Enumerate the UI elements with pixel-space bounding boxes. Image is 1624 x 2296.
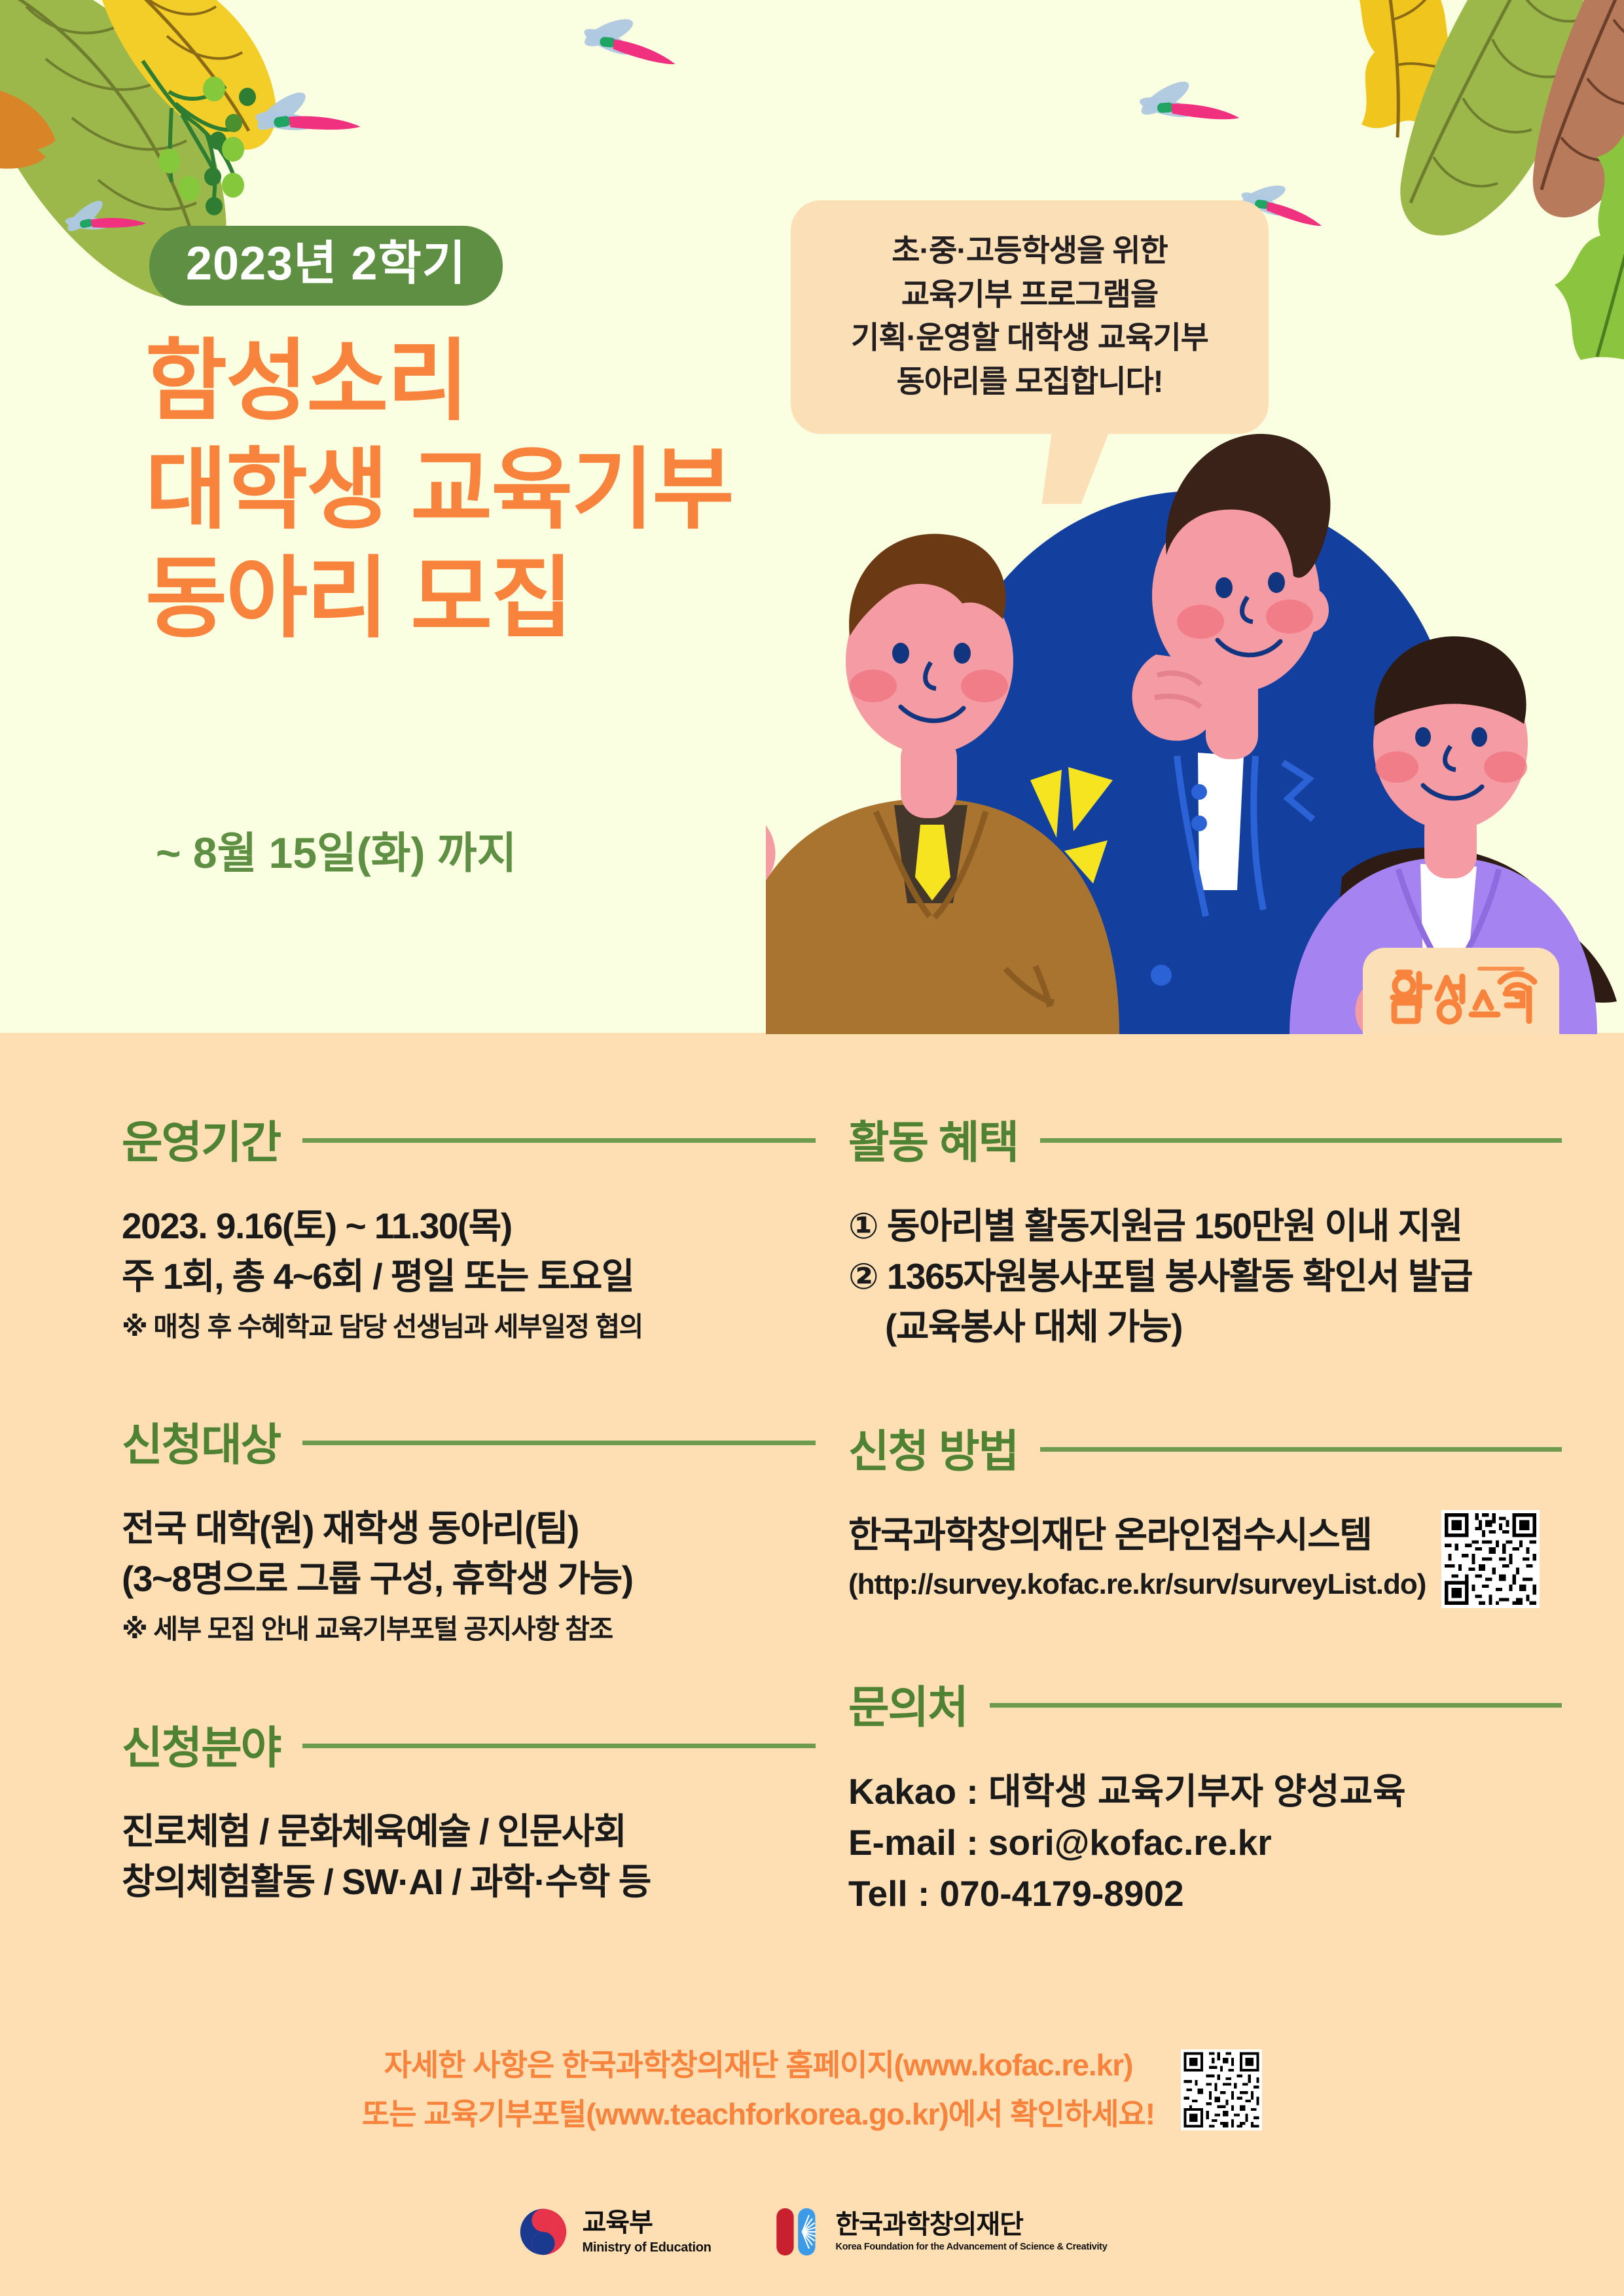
- section-target-head: 신청대상: [122, 1408, 816, 1473]
- deadline-text: ~ 8월 15일(화) 까지: [156, 818, 516, 881]
- poster-root: 2023년 2학기 함성소리 대학생 교육기부 동아리 모집 ~ 8월 15일(…: [0, 0, 1624, 2296]
- section-apply-body: 한국과학창의재단 온라인접수시스템 (http://survey.kofac.r…: [848, 1510, 1426, 1605]
- benefit-line-3: (교육봉사 대체 가능): [848, 1302, 1562, 1352]
- kofac-mark-icon: [774, 2204, 823, 2259]
- section-rule: [302, 1441, 816, 1445]
- title-line-2: 대학생 교육기부: [145, 436, 733, 545]
- taegeuk-icon: [517, 2206, 569, 2258]
- footer-line-2: 또는 교육기부포털(www.teachforkorea.go.kr)에서 확인하…: [362, 2090, 1155, 2139]
- section-contact-body: Kakao : 대학생 교육기부자 양성교육 E-mail : sori@kof…: [848, 1766, 1562, 1919]
- section-period-head: 운영기간: [122, 1106, 816, 1171]
- qr-code-survey[interactable]: [1441, 1510, 1540, 1608]
- section-field-body: 진로체험 / 문화체육예술 / 인문사회 창의체험활동 / SW·AI / 과학…: [122, 1806, 816, 1907]
- section-rule: [302, 1744, 816, 1748]
- kofac-name-en: Korea Foundation for the Advancement of …: [836, 2242, 1108, 2253]
- hamseongsori-logo: [1381, 958, 1541, 1030]
- section-benefit-title: 활동 혜택: [848, 1106, 1018, 1171]
- section-target: 신청대상 전국 대학(원) 재학생 동아리(팀) (3~8명으로 그룹 구성, …: [122, 1408, 816, 1648]
- contact-email: E-mail : sori@kofac.re.kr: [848, 1817, 1562, 1868]
- section-period: 운영기간 2023. 9.16(토) ~ 11.30(목) 주 1회, 총 4~…: [122, 1106, 816, 1346]
- logo-bar: 교육부 Ministry of Education: [0, 2204, 1624, 2259]
- bubble-line-1: 초·중·고등학생을 위한: [810, 229, 1249, 273]
- target-line-2: (3~8명으로 그룹 구성, 휴학생 가능): [122, 1554, 816, 1604]
- section-rule: [990, 1703, 1562, 1708]
- contact-kakao: Kakao : 대학생 교육기부자 양성교육: [848, 1766, 1562, 1817]
- apply-url: (http://survey.kofac.re.kr/surv/surveyLi…: [848, 1564, 1426, 1605]
- benefit-line-2: ② 1365자원봉사포털 봉사활동 확인서 발급: [848, 1251, 1562, 1302]
- bubble-line-4: 동아리를 모집합니다!: [810, 360, 1249, 404]
- bubble-line-3: 기획·운영할 대학생 교육기부: [810, 316, 1249, 360]
- section-target-title: 신청대상: [122, 1408, 280, 1473]
- page-title: 함성소리 대학생 교육기부 동아리 모집: [145, 327, 733, 653]
- benefit-line-1: ① 동아리별 활동지원금 150만원 이내 지원: [848, 1201, 1562, 1251]
- footer-note: 자세한 사항은 한국과학창의재단 홈페이지(www.kofac.re.kr) 또…: [0, 2041, 1624, 2138]
- section-period-body: 2023. 9.16(토) ~ 11.30(목) 주 1회, 총 4~6회 / …: [122, 1201, 816, 1346]
- period-line-1: 2023. 9.16(토) ~ 11.30(목): [122, 1201, 816, 1251]
- footer-inner: 자세한 사항은 한국과학창의재단 홈페이지(www.kofac.re.kr) 또…: [362, 2041, 1262, 2138]
- contact-tel: Tell : 070-4179-8902: [848, 1868, 1562, 1919]
- section-contact-title: 문의처: [848, 1671, 967, 1736]
- footer-text: 자세한 사항은 한국과학창의재단 홈페이지(www.kofac.re.kr) 또…: [362, 2041, 1155, 2138]
- moe-name-kr: 교육부: [583, 2208, 712, 2237]
- title-line-3: 동아리 모집: [145, 545, 733, 653]
- target-line-1: 전국 대학(원) 재학생 동아리(팀): [122, 1503, 816, 1554]
- logo-kofac: 한국과학창의재단 Korea Foundation for the Advanc…: [774, 2204, 1108, 2259]
- field-line-2: 창의체험활동 / SW·AI / 과학·수학 등: [122, 1857, 816, 1907]
- period-line-2: 주 1회, 총 4~6회 / 평일 또는 토요일: [122, 1251, 816, 1302]
- kofac-text: 한국과학창의재단 Korea Foundation for the Advanc…: [836, 2210, 1108, 2253]
- section-apply-head: 신청 방법: [848, 1415, 1562, 1480]
- section-benefit: 활동 혜택 ① 동아리별 활동지원금 150만원 이내 지원 ② 1365자원봉…: [848, 1106, 1562, 1352]
- section-rule: [1040, 1138, 1562, 1143]
- logo-ministry-of-education: 교육부 Ministry of Education: [517, 2206, 712, 2258]
- section-period-title: 운영기간: [122, 1106, 280, 1171]
- field-line-1: 진로체험 / 문화체육예술 / 인문사회: [122, 1806, 816, 1857]
- section-benefit-head: 활동 혜택: [848, 1106, 1562, 1171]
- kofac-name-kr: 한국과학창의재단: [836, 2210, 1108, 2239]
- section-contact-head: 문의처: [848, 1671, 1562, 1736]
- qr-code-footer[interactable]: [1181, 2049, 1262, 2130]
- section-apply: 신청 방법 한국과학창의재단 온라인접수시스템 (http://survey.k…: [848, 1415, 1562, 1608]
- section-contact: 문의처 Kakao : 대학생 교육기부자 양성교육 E-mail : sori…: [848, 1671, 1562, 1919]
- moe-name-en: Ministry of Education: [583, 2240, 712, 2255]
- speech-bubble: 초·중·고등학생을 위한 교육기부 프로그램을 기획·운영할 대학생 교육기부 …: [791, 200, 1269, 434]
- section-field: 신청분야 진로체험 / 문화체육예술 / 인문사회 창의체험활동 / SW·AI…: [122, 1712, 816, 1907]
- moe-text: 교육부 Ministry of Education: [583, 2208, 712, 2255]
- speech-bubble-tail: [1042, 425, 1112, 504]
- footer-line-1: 자세한 사항은 한국과학창의재단 홈페이지(www.kofac.re.kr): [362, 2041, 1155, 2090]
- section-apply-title: 신청 방법: [848, 1415, 1018, 1480]
- period-note: ※ 매칭 후 수혜학교 담당 선생님과 세부일정 협의: [122, 1308, 816, 1346]
- apply-line-1: 한국과학창의재단 온라인접수시스템: [848, 1510, 1426, 1560]
- bubble-line-2: 교육기부 프로그램을: [810, 273, 1249, 317]
- left-column: 운영기간 2023. 9.16(토) ~ 11.30(목) 주 1회, 총 4~…: [122, 1106, 816, 1970]
- semester-badge: 2023년 2학기: [149, 226, 503, 306]
- title-line-1: 함성소리: [145, 327, 733, 436]
- target-note: ※ 세부 모집 안내 교육기부포털 공지사항 참조: [122, 1611, 816, 1648]
- section-rule: [1040, 1447, 1562, 1452]
- section-field-title: 신청분야: [122, 1712, 280, 1776]
- right-column: 활동 혜택 ① 동아리별 활동지원금 150만원 이내 지원 ② 1365자원봉…: [848, 1106, 1562, 1982]
- section-rule: [302, 1138, 816, 1143]
- section-field-head: 신청분야: [122, 1712, 816, 1776]
- section-benefit-body: ① 동아리별 활동지원금 150만원 이내 지원 ② 1365자원봉사포털 봉사…: [848, 1201, 1562, 1352]
- apply-row: 한국과학창의재단 온라인접수시스템 (http://survey.kofac.r…: [848, 1510, 1562, 1608]
- section-target-body: 전국 대학(원) 재학생 동아리(팀) (3~8명으로 그룹 구성, 휴학생 가…: [122, 1503, 816, 1648]
